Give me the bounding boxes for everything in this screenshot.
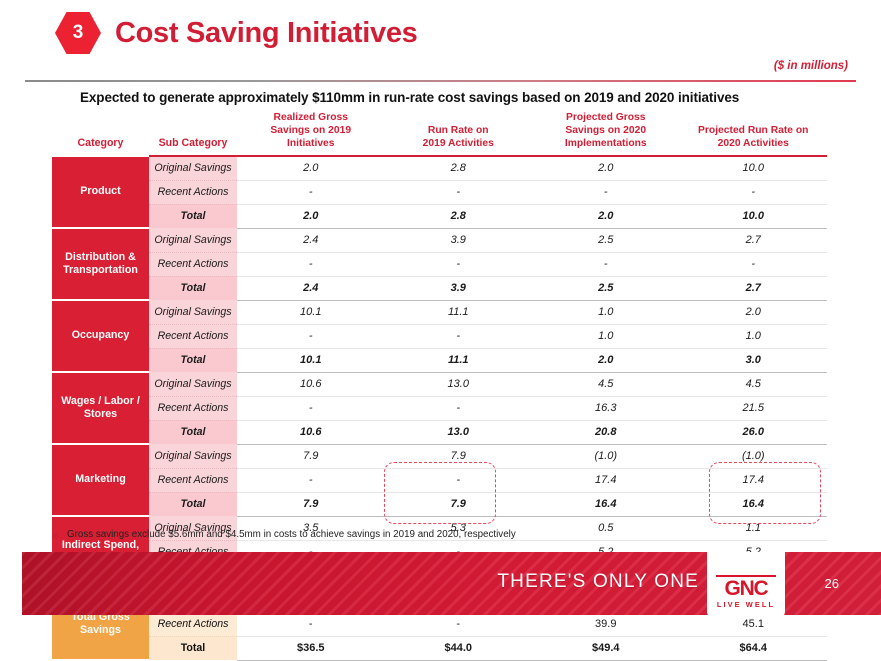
category-label-line: Wages / Labor / — [54, 395, 147, 408]
category-label-line: Savings — [54, 624, 147, 637]
value-cell: 7.9 — [237, 444, 385, 468]
col-header-line: Initiatives — [239, 138, 383, 151]
sub-category-cell: Recent Actions — [149, 180, 237, 204]
value-cell: 3.0 — [680, 348, 828, 372]
value-cell: 4.5 — [680, 372, 828, 396]
value-cell: $64.4 — [680, 636, 828, 660]
value-cell: - — [532, 180, 680, 204]
value-cell: 2.5 — [532, 228, 680, 252]
value-cell: 45.1 — [680, 612, 828, 636]
value-cell: - — [385, 324, 533, 348]
value-cell: - — [385, 468, 533, 492]
table-row: Recent Actions--1.01.0 — [52, 324, 827, 348]
value-cell: 2.7 — [680, 276, 828, 300]
value-cell: - — [237, 180, 385, 204]
category-cell: Occupancy — [52, 300, 149, 372]
sub-category-cell: Recent Actions — [149, 252, 237, 276]
value-cell: 17.4 — [532, 468, 680, 492]
value-cell: 11.1 — [385, 300, 533, 324]
value-cell: 2.5 — [532, 276, 680, 300]
value-cell: - — [532, 252, 680, 276]
sub-category-cell: Original Savings — [149, 157, 237, 181]
sub-category-cell: Original Savings — [149, 372, 237, 396]
value-cell: - — [237, 468, 385, 492]
table-row: Total10.613.020.826.0 — [52, 420, 827, 444]
value-cell: 21.5 — [680, 396, 828, 420]
value-cell: $36.5 — [237, 636, 385, 660]
col-header-line: Projected Run Rate on — [682, 125, 826, 138]
table-row: Total10.111.12.03.0 — [52, 348, 827, 372]
value-cell: 1.0 — [532, 300, 680, 324]
footnote: Gross savings exclude $5.6mm and $4.5mm … — [52, 529, 516, 540]
category-label-line: Distribution & — [54, 251, 147, 264]
sub-category-cell: Recent Actions — [149, 612, 237, 636]
col-header-projected-2020: Projected Gross Savings on 2020 Implemen… — [532, 112, 680, 155]
col-header-line: Implementations — [534, 138, 678, 151]
category-label-line: Stores — [54, 408, 147, 421]
sub-category-cell: Total — [149, 204, 237, 228]
value-cell: - — [237, 252, 385, 276]
logo-tagline-text: LIVE WELL — [707, 600, 785, 609]
value-cell: 2.4 — [237, 276, 385, 300]
value-cell: 3.9 — [385, 276, 533, 300]
value-cell: - — [237, 324, 385, 348]
value-cell: 10.6 — [237, 372, 385, 396]
value-cell: 10.0 — [680, 157, 828, 181]
table-row: Recent Actions---- — [52, 180, 827, 204]
logo-brand-text: GNC — [707, 578, 785, 599]
bullet-icon — [52, 533, 58, 539]
value-cell: 16.4 — [532, 492, 680, 516]
table-row: Total7.97.916.416.4 — [52, 492, 827, 516]
col-header-projected-runrate-2020: Projected Run Rate on 2020 Activities — [680, 112, 828, 155]
value-cell: 13.0 — [385, 372, 533, 396]
category-label-line: Indirect Spend, — [54, 539, 147, 552]
table-row: Total2.02.82.010.0 — [52, 204, 827, 228]
page-number: 26 — [825, 576, 839, 591]
value-cell: - — [385, 180, 533, 204]
value-cell: 2.7 — [680, 228, 828, 252]
col-header-sub-category: Sub Category — [149, 112, 237, 155]
value-cell: - — [237, 612, 385, 636]
col-header-line: 2020 Activities — [682, 138, 826, 151]
value-cell: - — [385, 612, 533, 636]
sub-category-cell: Original Savings — [149, 444, 237, 468]
section-number-badge: 3 — [55, 12, 101, 54]
col-header-line: Run Rate on — [387, 125, 531, 138]
value-cell: $44.0 — [385, 636, 533, 660]
value-cell: 1.0 — [680, 324, 828, 348]
col-header-category: Category — [52, 112, 149, 155]
footnote-text: Gross savings exclude $5.6mm and $4.5mm … — [67, 529, 516, 540]
table-row: Wages / Labor /StoresOriginal Savings10.… — [52, 372, 827, 396]
category-label-line: Transportation — [54, 264, 147, 277]
value-cell: 0.5 — [532, 516, 680, 540]
subtitle: Expected to generate approximately $110m… — [80, 90, 739, 105]
sub-category-cell: Total — [149, 636, 237, 660]
col-header-line: Realized Gross — [239, 112, 383, 125]
value-cell: 10.0 — [680, 204, 828, 228]
table-row: Total2.43.92.52.7 — [52, 276, 827, 300]
col-header-line: Savings on 2019 — [239, 125, 383, 138]
value-cell: 10.1 — [237, 300, 385, 324]
category-cell: Wages / Labor /Stores — [52, 372, 149, 444]
value-cell: 16.3 — [532, 396, 680, 420]
table-header: Category Sub Category Realized Gross Sav… — [52, 112, 827, 157]
value-cell: $49.4 — [532, 636, 680, 660]
value-cell: 2.0 — [532, 348, 680, 372]
table-row: Total$36.5$44.0$49.4$64.4 — [52, 636, 827, 660]
value-cell: 13.0 — [385, 420, 533, 444]
value-cell: 2.0 — [680, 300, 828, 324]
col-header-runrate-2019: Run Rate on 2019 Activities — [385, 112, 533, 155]
value-cell: - — [237, 396, 385, 420]
sub-category-cell: Recent Actions — [149, 396, 237, 420]
value-cell: 20.8 — [532, 420, 680, 444]
table-row: Recent Actions--39.945.1 — [52, 612, 827, 636]
value-cell: 10.1 — [237, 348, 385, 372]
value-cell: 7.9 — [237, 492, 385, 516]
sub-category-cell: Original Savings — [149, 300, 237, 324]
table-row: Recent Actions---- — [52, 252, 827, 276]
value-cell: (1.0) — [680, 444, 828, 468]
value-cell: 4.5 — [532, 372, 680, 396]
value-cell: 16.4 — [680, 492, 828, 516]
value-cell: 2.0 — [532, 204, 680, 228]
page-title: Cost Saving Initiatives — [115, 17, 418, 50]
table-row: ProductOriginal Savings2.02.82.010.0 — [52, 157, 827, 181]
value-cell: - — [680, 180, 828, 204]
sub-category-cell: Recent Actions — [149, 324, 237, 348]
table-row: MarketingOriginal Savings7.97.9(1.0)(1.0… — [52, 444, 827, 468]
gnc-logo: GNC LIVE WELL — [707, 552, 785, 615]
table-row: Recent Actions--17.417.4 — [52, 468, 827, 492]
section-number: 3 — [73, 22, 84, 44]
table-row: Distribution &TransportationOriginal Sav… — [52, 228, 827, 252]
slide: 3 Cost Saving Initiatives ($ in millions… — [0, 0, 881, 639]
value-cell: - — [385, 252, 533, 276]
category-cell: Distribution &Transportation — [52, 228, 149, 300]
value-cell: - — [680, 252, 828, 276]
value-cell: 1.1 — [680, 516, 828, 540]
sub-category-cell: Total — [149, 420, 237, 444]
value-cell: 7.9 — [385, 492, 533, 516]
col-header-line: Savings on 2020 — [534, 125, 678, 138]
value-cell: - — [385, 396, 533, 420]
value-cell: 11.1 — [385, 348, 533, 372]
header-divider — [25, 80, 856, 82]
value-cell: 10.6 — [237, 420, 385, 444]
table-row: OccupancyOriginal Savings10.111.11.02.0 — [52, 300, 827, 324]
value-cell: 7.9 — [385, 444, 533, 468]
value-cell: 1.0 — [532, 324, 680, 348]
category-cell: Product — [52, 157, 149, 229]
value-cell: 2.0 — [532, 157, 680, 181]
sub-category-cell: Original Savings — [149, 228, 237, 252]
units-note: ($ in millions) — [774, 60, 848, 72]
value-cell: 2.4 — [237, 228, 385, 252]
sub-category-cell: Recent Actions — [149, 468, 237, 492]
value-cell: 2.8 — [385, 204, 533, 228]
sub-category-cell: Total — [149, 276, 237, 300]
sub-category-cell: Total — [149, 348, 237, 372]
category-cell: Marketing — [52, 444, 149, 516]
table-row: Recent Actions--16.321.5 — [52, 396, 827, 420]
value-cell: 26.0 — [680, 420, 828, 444]
value-cell: 39.9 — [532, 612, 680, 636]
value-cell: 2.0 — [237, 204, 385, 228]
footer-tagline: THERE'S ONLY ONE — [497, 571, 699, 593]
value-cell: (1.0) — [532, 444, 680, 468]
sub-category-cell: Total — [149, 492, 237, 516]
col-header-line: 2019 Activities — [387, 138, 531, 151]
footer-band: THERE'S ONLY ONE GNC LIVE WELL 26 — [22, 552, 881, 615]
value-cell: 2.8 — [385, 157, 533, 181]
value-cell: 17.4 — [680, 468, 828, 492]
slide-header: 3 Cost Saving Initiatives — [55, 12, 418, 54]
col-header-line: Projected Gross — [534, 112, 678, 125]
col-header-realized-2019: Realized Gross Savings on 2019 Initiativ… — [237, 112, 385, 155]
value-cell: 2.0 — [237, 157, 385, 181]
value-cell: 3.9 — [385, 228, 533, 252]
